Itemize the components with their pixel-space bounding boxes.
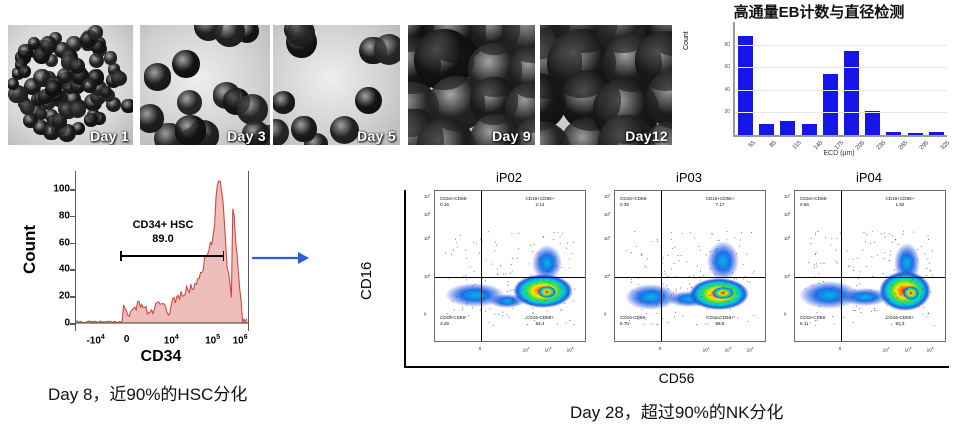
nk-y-tick: 105	[424, 235, 430, 241]
nk-y-tick: 104	[604, 273, 610, 279]
x-tick-label: 0	[124, 334, 130, 345]
spheroid	[374, 34, 400, 65]
bar	[908, 133, 923, 135]
quadrant-vertical-line	[841, 191, 842, 341]
nk-x-tick: 104	[883, 346, 890, 353]
quadrant-horizontal-line	[615, 277, 765, 278]
y-tick-label: 60	[44, 237, 70, 248]
microscopy-panel-day9: Day 9	[408, 25, 535, 145]
nk-y-tick: 107	[424, 193, 430, 199]
quadrant-stat-lower-right: CD16-CD56+94.4	[501, 315, 579, 327]
x-tick-label: 105	[205, 334, 220, 346]
day-label: Day12	[625, 128, 668, 144]
bar	[802, 124, 817, 135]
bar	[759, 124, 774, 135]
cd34-histogram: Count 020406080100 CD34+ HSC 89.0 -10401…	[22, 166, 312, 366]
quadrant-stat-upper-left: CD16+CD56-0.36	[620, 196, 648, 208]
nk-y-axis-label: CD16	[358, 262, 375, 300]
spheroid	[214, 25, 245, 47]
nk-dotplot-ip04: CD16+CD56-0.66CD16+CD56+1.92CD16-CD56-5.…	[794, 190, 946, 342]
nk-y-tick: 106	[604, 211, 610, 217]
spheroid	[104, 51, 117, 64]
spheroid	[18, 65, 31, 78]
quadrant-stat-upper-right: CD16+CD56+1.92	[861, 196, 939, 208]
nk-y-tick: 106	[784, 211, 790, 217]
nk-x-axis-arrow	[404, 366, 949, 368]
nk-y-tick: 106	[424, 211, 430, 217]
quadrant-stat-upper-right: CD16+CD56+7.17	[681, 196, 759, 208]
quadrant-vertical-line	[481, 191, 482, 341]
spheroid	[355, 87, 381, 113]
day-label: Day 3	[227, 128, 266, 144]
nk-dotplot-group: CD16 CD56 CD16+CD56-0.16CD16+CD56+2.14CD…	[404, 170, 957, 400]
spheroid	[20, 100, 35, 115]
y-tick-label: 100	[44, 184, 70, 195]
nk-y-tick: 107	[784, 193, 790, 199]
spheroid	[237, 94, 268, 125]
spheroid	[69, 101, 86, 118]
quadrant-stat-upper-right: CD16+CD56+2.14	[501, 196, 579, 208]
nk-x-tick: 105	[905, 346, 912, 353]
nk-y-tick: 107	[604, 193, 610, 199]
y-tick-label: 20	[44, 291, 70, 302]
bar	[823, 74, 838, 135]
nk-x-axis-label: CD56	[404, 370, 949, 386]
y-tick-label: 40	[724, 87, 730, 93]
bar	[738, 36, 753, 135]
bar-chart-title: 高通量EB计数与直径检测	[681, 1, 957, 22]
quadrant-stat-lower-left: CD16-CD56-3.29	[440, 315, 467, 327]
bar	[780, 121, 795, 135]
bar-chart-bars	[735, 22, 947, 135]
nk-y-tick: 104	[784, 273, 790, 279]
grid-line	[735, 112, 947, 113]
y-tick-label: 60	[724, 64, 730, 70]
x-tick-label: 106	[233, 334, 248, 346]
microscopy-panel-day3: Day 3	[140, 25, 270, 145]
microscopy-field	[140, 25, 270, 145]
microscopy-field	[273, 25, 400, 145]
quadrant-horizontal-line	[795, 277, 945, 278]
grid-line	[735, 45, 947, 46]
bar-chart-x-axis-label: ECD (μm)	[733, 150, 945, 157]
x-tick-label: 55	[748, 140, 757, 149]
microscopy-field	[8, 25, 133, 145]
bar	[865, 111, 880, 135]
spheroid	[273, 91, 295, 114]
nk-panel-title-ip02: iP02	[449, 170, 569, 185]
bar-chart-y-axis-label: Count	[683, 31, 690, 50]
quadrant-stat-upper-left: CD16+CD56-0.16	[440, 196, 468, 208]
arrow-icon	[250, 248, 310, 268]
y-tick-label: 0	[44, 318, 70, 329]
nk-y-tick: 0	[784, 312, 786, 317]
histogram-plot-area: CD34+ HSC 89.0	[75, 171, 249, 331]
spheroid	[273, 119, 289, 145]
quadrant-horizontal-line	[435, 277, 585, 278]
nk-x-tick: 0	[479, 346, 482, 351]
y-tick-label: 80	[44, 210, 70, 221]
quadrant-stat-upper-left: CD16+CD56-0.66	[800, 196, 828, 208]
nk-dotplot-ip03: CD16+CD56-0.36CD16+CD56+7.17CD16-CD56-6.…	[614, 190, 766, 342]
nk-panel-title-ip04: iP04	[809, 170, 929, 185]
spheroid	[40, 36, 58, 54]
nk-dotplot-ip02: CD16+CD56-0.16CD16+CD56+2.14CD16-CD56-3.…	[434, 190, 586, 342]
day-label: Day 9	[492, 128, 531, 144]
caption-right: Day 28，超过90%的NK分化	[570, 398, 784, 423]
nk-y-axis-arrow	[404, 190, 406, 368]
quadrant-stat-lower-left: CD16-CD56-5.11	[800, 315, 827, 327]
nk-x-tick: 104	[523, 346, 530, 353]
spheroid	[45, 80, 62, 97]
spheroid	[88, 25, 103, 40]
y-tick-label: 20	[724, 109, 730, 115]
bar-chart-plot-area	[733, 22, 947, 137]
grid-line	[735, 67, 947, 68]
nk-x-tick: 106	[927, 346, 934, 353]
microscopy-field	[408, 25, 535, 145]
bar	[886, 132, 901, 135]
x-tick-label: 104	[164, 334, 179, 346]
nk-x-tick: 104	[703, 346, 710, 353]
spheroid	[100, 86, 112, 98]
x-tick-label: 85	[769, 140, 778, 149]
nk-y-tick: 105	[784, 235, 790, 241]
nk-x-tick: 106	[747, 346, 754, 353]
eb-count-bar-chart: 高通量EB计数与直径检测 Count 20406080 558511514517…	[681, 0, 957, 160]
nk-y-tick: 0	[604, 312, 606, 317]
gate-label: CD34+ HSC	[104, 219, 222, 231]
x-tick-label: -104	[86, 334, 104, 346]
quadrant-vertical-line	[661, 191, 662, 341]
nk-x-tick: 105	[545, 346, 552, 353]
spheroid	[172, 50, 200, 78]
gate-value: 89.0	[104, 233, 222, 245]
day-label: Day 5	[357, 128, 396, 144]
microscopy-panel-day12: Day12	[540, 25, 672, 145]
nk-x-tick: 0	[839, 346, 842, 351]
microscopy-field	[540, 25, 672, 145]
spheroid	[69, 58, 85, 74]
quadrant-stat-lower-left: CD16-CD56-6.70	[620, 315, 647, 327]
nk-x-tick: 105	[725, 346, 732, 353]
microscopy-panel-day5: Day 5	[273, 25, 400, 145]
spheroid	[111, 71, 127, 87]
bar	[929, 132, 944, 135]
grid-line	[735, 90, 947, 91]
nk-panel-title-ip03: iP03	[629, 170, 749, 185]
quadrant-stat-lower-right: CD16-CD56+92.3	[861, 315, 939, 327]
nk-y-tick: 0	[424, 312, 426, 317]
spheroid	[121, 99, 133, 113]
day-label: Day 1	[90, 128, 129, 144]
microscopy-panel-day1: Day 1	[8, 25, 133, 145]
quadrant-stat-lower-right: CD16-CD56+85.8	[681, 315, 759, 327]
nk-y-tick: 105	[604, 235, 610, 241]
spheroid	[144, 63, 172, 91]
spheroid	[177, 90, 202, 115]
spheroid	[330, 116, 358, 144]
y-tick-label: 80	[724, 42, 730, 48]
spheroid	[89, 53, 105, 69]
caption-left: Day 8，近90%的HSC分化	[48, 380, 247, 405]
spheroid	[175, 115, 206, 145]
spheroid	[291, 116, 317, 142]
gate-bar	[120, 255, 224, 257]
bar	[844, 51, 859, 135]
spheroid	[52, 113, 67, 128]
histogram-x-axis-label: CD34	[75, 348, 247, 366]
nk-y-tick: 104	[424, 273, 430, 279]
spheroid	[84, 113, 98, 127]
nk-x-tick: 0	[659, 346, 662, 351]
histogram-y-axis-label: Count	[20, 225, 40, 274]
nk-x-tick: 106	[567, 346, 574, 353]
y-tick-label: 40	[44, 264, 70, 275]
